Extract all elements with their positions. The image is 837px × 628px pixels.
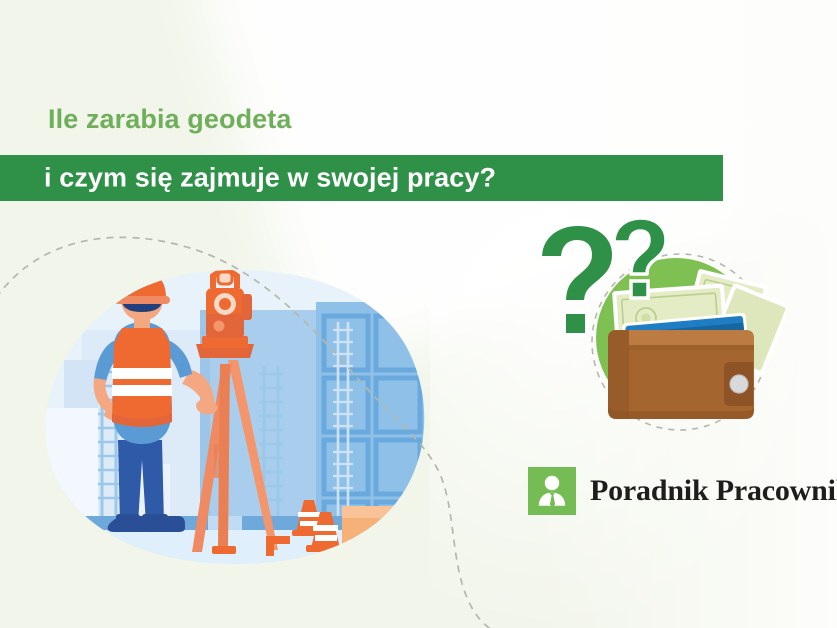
person-tie-icon — [528, 467, 576, 515]
question-mark-large — [540, 224, 614, 335]
brand-logo[interactable]: Poradnik Pracownika — [528, 467, 837, 515]
surveyor-illustration — [42, 268, 432, 568]
question-marks — [528, 218, 668, 338]
headline-line-2: i czym się zajmuje w swojej pracy? — [44, 163, 496, 194]
headline-green-bar: i czym się zajmuje w swojej pracy? — [0, 155, 723, 201]
hard-hat — [118, 272, 166, 300]
poster-canvas: CREDIT CARD Ile — [0, 0, 837, 628]
headline-line-1: Ile zarabia geodeta — [48, 104, 292, 135]
scene-blob — [42, 268, 432, 568]
wallet-body — [608, 330, 754, 419]
question-mark-small — [614, 218, 666, 298]
brand-name: Poradnik Pracownika — [590, 474, 837, 508]
